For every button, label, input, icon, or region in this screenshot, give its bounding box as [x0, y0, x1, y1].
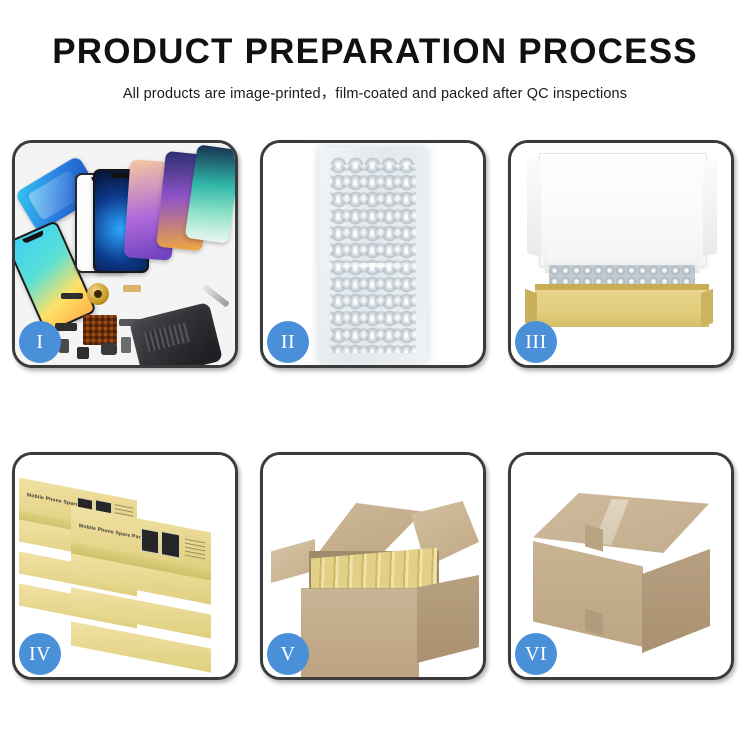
- step-panel-v: V: [260, 452, 486, 680]
- box-phone-image: [161, 531, 180, 559]
- page-title: PRODUCT PREPARATION PROCESS: [0, 34, 750, 71]
- part-taptic-engine: [121, 337, 131, 353]
- box-lid-flap-left: [527, 158, 541, 257]
- part-button: [77, 347, 89, 359]
- part-copper-grid: [83, 315, 117, 345]
- box-lid-flap-right: [703, 158, 717, 257]
- part-flex-small: [55, 323, 77, 331]
- step-badge-iv: IV: [19, 633, 61, 675]
- phone-notch: [22, 231, 44, 244]
- step-badge-iii: III: [515, 321, 557, 363]
- part-connector-strip: [61, 293, 83, 299]
- part-speaker: [101, 343, 117, 355]
- box-phone-image: [141, 528, 159, 554]
- bubble-wrap-seam: [323, 263, 423, 267]
- box-body-yellow: [535, 289, 709, 327]
- carton-side-face: [417, 575, 479, 663]
- step-panel-i: I: [12, 140, 238, 368]
- box-spec-text: [185, 536, 205, 560]
- part-flex-cable: [123, 285, 141, 292]
- box-side-lip: [701, 289, 713, 327]
- header: PRODUCT PREPARATION PROCESS All products…: [0, 0, 750, 103]
- step-panel-vi: VI: [508, 452, 734, 680]
- step-badge-i: I: [19, 321, 61, 363]
- process-steps-grid: I II III: [12, 140, 738, 680]
- part-gold-coil: [87, 283, 109, 305]
- step-panel-iii: III: [508, 140, 734, 368]
- step-panel-ii: II: [260, 140, 486, 368]
- carton-corner-seam-top: [585, 524, 603, 551]
- page-subtitle: All products are image-printed，film-coat…: [0, 82, 750, 103]
- step-panel-iv: Mobile Phone Spare Parts: [12, 452, 238, 680]
- infographic-page: PRODUCT PREPARATION PROCESS All products…: [0, 0, 750, 750]
- carton-front-face: [301, 589, 419, 677]
- step-badge-ii: II: [267, 321, 309, 363]
- step-badge-vi: VI: [515, 633, 557, 675]
- sealed-carton-side-face: [642, 549, 710, 653]
- bubble-wrap-bubbles-back: [330, 165, 416, 353]
- step-badge-v: V: [267, 633, 309, 675]
- part-phone-back-housing: [129, 302, 223, 365]
